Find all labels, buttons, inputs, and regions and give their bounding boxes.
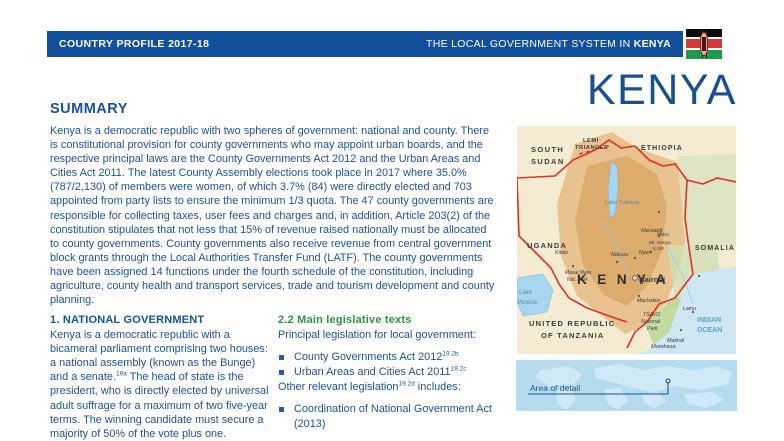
- legislation-title: County Governments Act 2012: [294, 351, 442, 363]
- svg-text:SUDAN: SUDAN: [531, 157, 565, 166]
- svg-text:National: National: [641, 319, 661, 325]
- national-government-paragraph: Kenya is a democratic republic with a bi…: [50, 328, 272, 441]
- svg-text:OF TANZANIA: OF TANZANIA: [541, 331, 604, 340]
- svg-text:Masai Mara: Masai Mara: [565, 270, 591, 276]
- footnote-ref-19a: 19a: [116, 371, 127, 378]
- header-system-prefix: THE LOCAL GOVERNMENT SYSTEM IN: [426, 38, 634, 50]
- legislation-title: Urban Areas and Cities Act 2011: [294, 366, 451, 378]
- other-legislation-list: Coordination of National Government Act …: [278, 402, 500, 430]
- page-header-bar: COUNTRY PROFILE 2017-18 THE LOCAL GOVERN…: [47, 31, 683, 57]
- footnote-ref-19-2d: 19.2d: [398, 381, 414, 388]
- footnote-ref: 19.2b: [442, 351, 458, 358]
- svg-text:TSAVO: TSAVO: [643, 312, 660, 318]
- svg-text:TRIANGLE: TRIANGLE: [575, 145, 608, 151]
- legislative-intro: Principal legislation for local governme…: [278, 328, 500, 342]
- svg-text:SOUTH: SOUTH: [531, 145, 564, 154]
- list-item: Coordination of National Government Act …: [278, 402, 500, 430]
- kenya-locator-map: SOUTH SUDAN ETHIOPIA UGANDA SOMALIA UNIT…: [516, 125, 737, 355]
- svg-text:Lamu: Lamu: [683, 306, 696, 312]
- header-system-country: KENYA: [634, 38, 671, 50]
- svg-text:Nat. Park: Nat. Park: [567, 277, 588, 283]
- page-title: KENYA: [587, 69, 737, 112]
- world-locator-inset: Area of detail: [516, 360, 737, 411]
- inset-label: Area of detail: [530, 383, 580, 393]
- svg-text:UNITED REPUBLIC: UNITED REPUBLIC: [529, 319, 615, 328]
- header-system-label: THE LOCAL GOVERNMENT SYSTEM IN KENYA: [426, 38, 671, 50]
- svg-text:Nairobi: Nairobi: [639, 275, 665, 284]
- svg-text:Meru: Meru: [657, 232, 669, 238]
- legislation-title: Coordination of National Government Act …: [294, 403, 492, 429]
- primary-legislation-list: County Governments Act 201219.2b Urban A…: [278, 350, 500, 379]
- list-item: Urban Areas and Cities Act 201119.2c: [278, 365, 500, 379]
- svg-text:Park: Park: [647, 326, 658, 332]
- svg-text:5,199: 5,199: [653, 246, 664, 251]
- svg-text:SOMALIA: SOMALIA: [695, 245, 735, 252]
- svg-text:Victoria: Victoria: [517, 300, 538, 306]
- footnote-ref: 19.2c: [451, 366, 467, 373]
- svg-text:Lake Turkana: Lake Turkana: [605, 200, 639, 206]
- svg-text:Nyeri: Nyeri: [639, 250, 652, 256]
- other-intro-part2: includes:: [415, 381, 461, 393]
- svg-text:Mombasa: Mombasa: [651, 344, 676, 350]
- svg-text:Lake: Lake: [519, 290, 533, 296]
- summary-body: Kenya is a democratic republic with two …: [50, 124, 497, 307]
- flag-shield-core-icon: [702, 37, 706, 51]
- column-legislative-texts: 2.2 Main legislative texts Principal leg…: [278, 313, 500, 432]
- section-heading-national-government: 1. NATIONAL GOVERNMENT: [50, 313, 272, 327]
- svg-text:UGANDA: UGANDA: [527, 241, 567, 250]
- svg-text:Machakos: Machakos: [637, 298, 661, 304]
- svg-text:INDIAN: INDIAN: [697, 317, 721, 324]
- svg-text:Nakuru: Nakuru: [611, 252, 628, 258]
- summary-heading: SUMMARY: [50, 101, 128, 117]
- svg-text:ETHIOPIA: ETHIOPIA: [641, 145, 683, 152]
- list-item: County Governments Act 201219.2b: [278, 350, 500, 364]
- other-legislation-intro: Other relevant legislation19.2d includes…: [278, 380, 500, 394]
- svg-text:Kitale: Kitale: [555, 250, 568, 256]
- section-heading-legislative-texts: 2.2 Main legislative texts: [278, 313, 500, 327]
- other-intro-part1: Other relevant legislation: [278, 381, 398, 393]
- kenya-flag-icon: [686, 29, 722, 59]
- svg-text:OCEAN: OCEAN: [697, 327, 722, 334]
- column-national-government: 1. NATIONAL GOVERNMENT Kenya is a democr…: [50, 313, 272, 441]
- header-country-profile-label: COUNTRY PROFILE 2017-18: [59, 38, 209, 50]
- svg-text:LEMI: LEMI: [583, 138, 599, 144]
- document-page: COUNTRY PROFILE 2017-18 THE LOCAL GOVERN…: [0, 0, 784, 441]
